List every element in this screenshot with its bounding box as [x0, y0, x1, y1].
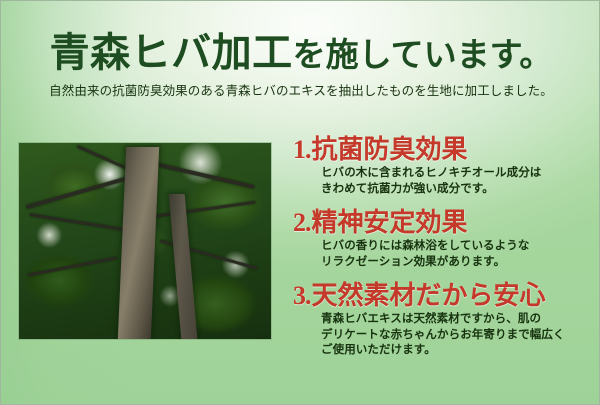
tree-branch	[26, 175, 134, 209]
page-subtitle: 自然由来の抗菌防臭効果のある青森ヒバのエキスを抽出したものを生地に加工しました。	[1, 75, 600, 99]
benefit-number-1: 1.	[293, 135, 312, 164]
secondary-tree-trunk	[169, 194, 198, 339]
tree-branch	[27, 256, 117, 276]
benefit-list: 1.抗菌防臭効果 ヒバの木に含まれるヒノキチオール成分は きわめて抗菌力が強い成…	[293, 135, 593, 359]
promo-poster: 青森ヒバ加工を施しています。 自然由来の抗菌防臭効果のある青森ヒバのエキスを抽出…	[0, 0, 600, 405]
forest-photo-canopy	[19, 143, 271, 339]
benefit-title-2: 精神安定効果	[312, 208, 468, 237]
benefit-body-2: ヒバの香りには森林浴をしているような リラクゼーション効果があります。	[293, 239, 593, 271]
benefit-number-2: 2.	[293, 208, 312, 237]
benefit-item-3: 3.天然素材だから安心 青森ヒバエキスは天然素材ですから、肌の デリケートな赤ち…	[293, 281, 593, 360]
benefit-item-1: 1.抗菌防臭効果 ヒバの木に含まれるヒノキチオール成分は きわめて抗菌力が強い成…	[293, 135, 593, 198]
benefit-heading-1: 1.抗菌防臭効果	[293, 135, 593, 164]
main-tree-trunk	[118, 147, 159, 339]
page-title-main: 青森ヒバ加工	[50, 30, 293, 75]
benefit-heading-2: 2.精神安定効果	[293, 208, 593, 237]
page-title-tail: を施しています。	[293, 38, 553, 74]
benefit-heading-3: 3.天然素材だから安心	[293, 281, 593, 310]
benefit-title-3: 天然素材だから安心	[312, 281, 546, 310]
tree-branch	[150, 200, 255, 218]
hiba-forest-photo	[19, 143, 271, 339]
benefit-item-2: 2.精神安定効果 ヒバの香りには森林浴をしているような リラクゼーション効果があ…	[293, 208, 593, 271]
page-title: 青森ヒバ加工を施しています。	[1, 1, 600, 75]
benefit-body-1: ヒバの木に含まれるヒノキチオール成分は きわめて抗菌力が強い成分です。	[293, 166, 593, 198]
benefit-body-3: 青森ヒバエキスは天然素材ですから、肌の デリケートな赤ちゃんからお年寄りまで幅広…	[293, 312, 593, 360]
benefit-number-3: 3.	[293, 281, 312, 310]
benefit-title-1: 抗菌防臭効果	[312, 135, 468, 164]
poster-header: 青森ヒバ加工を施しています。 自然由来の抗菌防臭効果のある青森ヒバのエキスを抽出…	[1, 1, 600, 99]
tree-branch	[29, 214, 129, 233]
